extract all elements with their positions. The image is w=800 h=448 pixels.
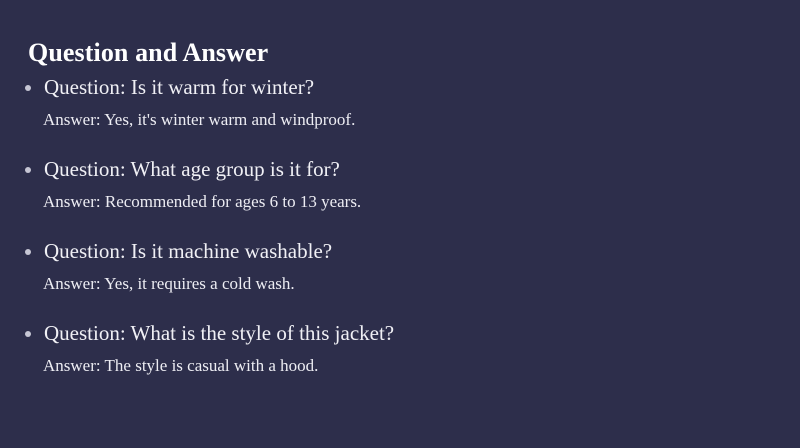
question-row: Question: Is it machine washable? [0,238,800,265]
answer-row: Answer: Yes, it requires a cold wash. [0,272,800,295]
question-text: Question: What is the style of this jack… [44,320,800,347]
answer-row: Answer: Recommended for ages 6 to 13 yea… [0,190,800,213]
question-text: Question: Is it warm for winter? [44,74,800,101]
answer-text: Answer: The style is casual with a hood. [43,354,800,377]
answer-text: Answer: Yes, it's winter warm and windpr… [43,108,800,131]
list-item: Question: Is it warm for winter? Answer:… [0,74,800,131]
question-row: Question: Is it warm for winter? [0,74,800,101]
question-text: Question: Is it machine washable? [44,238,800,265]
list-item: Question: What age group is it for? Answ… [0,156,800,213]
bullet-dot-icon [25,85,31,91]
bullet-dot-icon [25,331,31,337]
bullet-dot-icon [25,167,31,173]
list-item: Question: What is the style of this jack… [0,320,800,377]
answer-row: Answer: Yes, it's winter warm and windpr… [0,108,800,131]
slide-canvas: Question and Answer Question: Is it warm… [0,0,800,448]
qa-list: Question: Is it warm for winter? Answer:… [0,74,800,377]
question-row: Question: What age group is it for? [0,156,800,183]
answer-text: Answer: Yes, it requires a cold wash. [43,272,800,295]
page-title: Question and Answer [28,37,268,68]
list-item: Question: Is it machine washable? Answer… [0,238,800,295]
question-row: Question: What is the style of this jack… [0,320,800,347]
answer-text: Answer: Recommended for ages 6 to 13 yea… [43,190,800,213]
answer-row: Answer: The style is casual with a hood. [0,354,800,377]
bullet-dot-icon [25,249,31,255]
question-text: Question: What age group is it for? [44,156,800,183]
